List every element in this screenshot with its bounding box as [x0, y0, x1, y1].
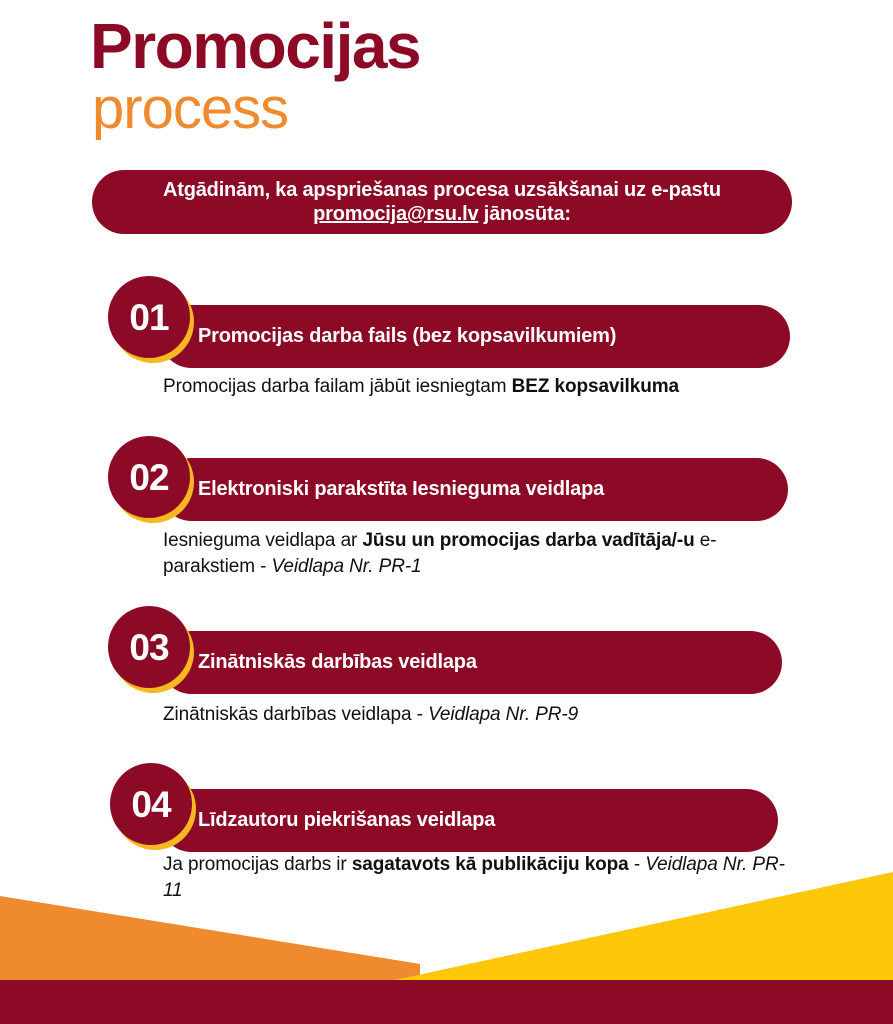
step-title-bar: Zinātniskās darbības veidlapa [160, 631, 782, 694]
step-title-label: Līdzautoru piekrišanas veidlapa [198, 809, 495, 832]
step-number-text: 04 [131, 786, 170, 823]
notice-text-before: Atgādinām, ka apspriešanas procesa uzsāk… [163, 179, 721, 201]
desc-text: Iesnieguma veidlapa ar [163, 530, 362, 551]
desc-text: Zinātniskās darbības veidlapa - [163, 704, 428, 725]
step-title-bar: Promocijas darba fails (bez kopsavilkumi… [160, 305, 790, 368]
step-description: Promocijas darba failam jābūt iesniegtam… [163, 374, 803, 400]
email-link[interactable]: promocija@rsu.lv [313, 203, 478, 225]
desc-italic-text: Veidlapa Nr. PR-1 [272, 556, 422, 577]
step-title-label: Elektroniski parakstīta Iesnieguma veidl… [198, 478, 604, 501]
step-number-text: 03 [129, 629, 168, 666]
badge-disc-shape: 02 [108, 436, 190, 518]
step-number-badge: 02 [108, 436, 196, 524]
title-line-accent: process [90, 79, 790, 140]
step-title-bar: Līdzautoru piekrišanas veidlapa [160, 789, 778, 852]
step-number-badge: 03 [108, 606, 196, 694]
badge-disc-shape: 04 [110, 763, 192, 845]
step-description: Iesnieguma veidlapa ar Jūsu un promocija… [163, 528, 803, 579]
step-title-label: Promocijas darba fails (bez kopsavilkumi… [198, 325, 616, 348]
step-number-badge: 01 [108, 276, 196, 364]
step-number-badge: 04 [110, 763, 198, 851]
page-title: Promocijas process [90, 14, 790, 140]
infographic-page: Promocijas process Atgādinām, ka apsprie… [0, 0, 893, 1024]
step-number-text: 01 [129, 299, 168, 336]
desc-bold-text: BEZ kopsavilkuma [512, 376, 679, 397]
badge-disc-shape: 03 [108, 606, 190, 688]
bottom-decoration [0, 860, 893, 1024]
notice-text: Atgādinām, ka apspriešanas procesa uzsāk… [116, 178, 768, 227]
step-description: Zinātniskās darbības veidlapa - Veidlapa… [163, 702, 803, 728]
desc-bold-text: Jūsu un promocijas darba vadītāja/-u [362, 530, 694, 551]
step-number-text: 02 [129, 459, 168, 496]
step-title-label: Zinātniskās darbības veidlapa [198, 651, 477, 674]
notice-text-after: jānosūta: [478, 203, 570, 225]
notice-banner: Atgādinām, ka apspriešanas procesa uzsāk… [92, 170, 792, 234]
title-line-primary: Promocijas [90, 14, 790, 79]
desc-text: Promocijas darba failam jābūt iesniegtam [163, 376, 512, 397]
desc-italic-text: Veidlapa Nr. PR-9 [428, 704, 578, 725]
badge-disc-shape: 01 [108, 276, 190, 358]
maroon-footer-bar [0, 980, 893, 1024]
step-title-bar: Elektroniski parakstīta Iesnieguma veidl… [160, 458, 788, 521]
